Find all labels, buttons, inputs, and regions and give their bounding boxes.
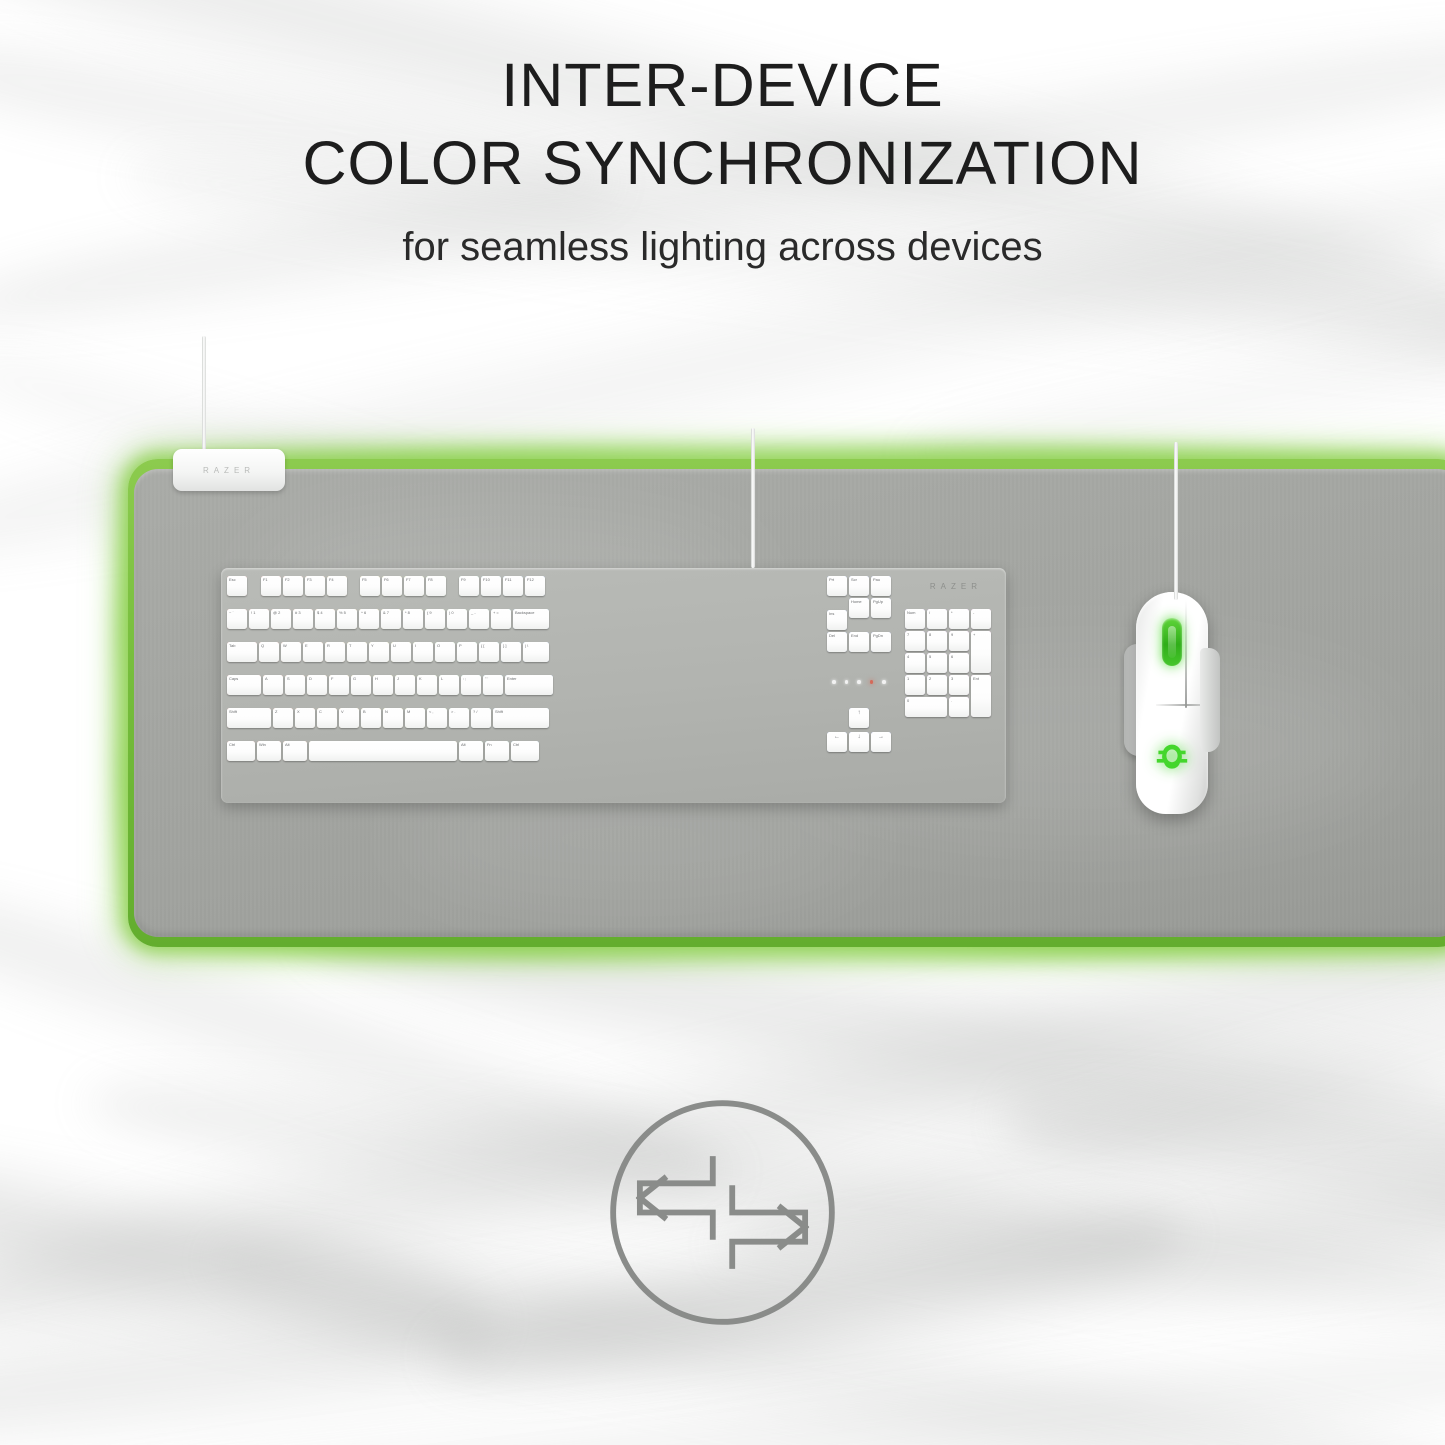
keyboard-key[interactable]: F9 bbox=[459, 576, 479, 596]
keyboard-key[interactable]: R bbox=[325, 642, 345, 662]
keyboard-key-numpad[interactable]: 7 bbox=[905, 631, 925, 651]
key-label: W bbox=[283, 644, 300, 649]
keyboard-key[interactable]: U bbox=[391, 642, 411, 662]
keyboard-key[interactable]: Ctrl bbox=[227, 741, 255, 761]
headline-subtitle: for seamless lighting across devices bbox=[0, 224, 1445, 270]
keyboard-row-function-row: EscF1F2F3F4F5F6F7F8F9F10F11F12 bbox=[227, 576, 547, 596]
keyboard-key[interactable]: Shift bbox=[227, 708, 271, 728]
keyboard-row-shift-row: ShiftZXCVBNM< ,> .? /Shift bbox=[227, 708, 551, 728]
keyboard-key-numpad[interactable]: - bbox=[971, 609, 991, 629]
key-label: Win bbox=[259, 743, 280, 748]
keyboard-key[interactable]: X bbox=[295, 708, 315, 728]
key-label: O bbox=[437, 644, 454, 649]
keyboard-key[interactable]: ^ 6 bbox=[359, 609, 379, 629]
keyboard-key-arrow[interactable]: ↑ bbox=[849, 708, 869, 728]
key-label: J bbox=[397, 677, 414, 682]
key-label: @ 2 bbox=[273, 611, 290, 616]
keyboard-key-nav[interactable]: Ins bbox=[827, 610, 847, 630]
keyboard-key[interactable]: F2 bbox=[283, 576, 303, 596]
sync-arrows-icon bbox=[601, 1091, 844, 1334]
key-label: Backspace bbox=[515, 611, 547, 616]
key-spacer bbox=[249, 576, 259, 596]
key-label: 2 bbox=[929, 677, 946, 682]
key-label: U bbox=[393, 644, 410, 649]
keyboard-key[interactable]: F1 bbox=[261, 576, 281, 596]
key-label: # 3 bbox=[295, 611, 312, 616]
key-label: E bbox=[305, 644, 322, 649]
keyboard-key[interactable]: H bbox=[373, 675, 393, 695]
key-label: F11 bbox=[505, 578, 522, 583]
keyboard-key[interactable]: V bbox=[339, 708, 359, 728]
keyboard-key[interactable]: * 8 bbox=[403, 609, 423, 629]
keyboard-key[interactable]: + = bbox=[491, 609, 511, 629]
key-label: 4 bbox=[907, 655, 924, 660]
key-label: F7 bbox=[406, 578, 423, 583]
key-label: B bbox=[363, 710, 380, 715]
keyboard-nav-cluster: PrtScrPauInsHomePgUpDelEndPgDn bbox=[827, 576, 891, 652]
key-label: Esc bbox=[229, 578, 246, 583]
keyboard-row-bottom-row: CtrlWinAltAltFnCtrl bbox=[227, 741, 541, 761]
keyboard-key-nav[interactable]: PgUp bbox=[871, 598, 891, 618]
keyboard-key-numpad[interactable]: Ent bbox=[971, 675, 991, 717]
keyboard-key[interactable]: Esc bbox=[227, 576, 247, 596]
led-indicator bbox=[870, 680, 874, 684]
keyboard-key[interactable]: Caps bbox=[227, 675, 261, 695]
key-label: ) 0 bbox=[449, 611, 466, 616]
keyboard-key[interactable]: G bbox=[351, 675, 371, 695]
key-label: 5 bbox=[929, 655, 946, 660]
key-label: ( 9 bbox=[427, 611, 444, 616]
razer-snake-logo bbox=[1152, 742, 1192, 776]
pad-usb-connector-tab: RAZER bbox=[173, 449, 285, 491]
keyboard-key[interactable]: S bbox=[285, 675, 305, 695]
key-label: / bbox=[929, 611, 946, 616]
keyboard-key[interactable]: Alt bbox=[459, 741, 483, 761]
led-indicator bbox=[882, 680, 886, 684]
keyboard-cable bbox=[751, 428, 755, 568]
keyboard-row-home-row: CapsASDFGHJKL: ;" 'Enter bbox=[227, 675, 555, 695]
keyboard-key[interactable]: F6 bbox=[382, 576, 402, 596]
keyboard-key[interactable]: F10 bbox=[481, 576, 501, 596]
keyboard-key[interactable]: ( 9 bbox=[425, 609, 445, 629]
mouse-button-seam bbox=[1185, 600, 1187, 708]
headline-block: INTER-DEVICE COLOR SYNCHRONIZATION for s… bbox=[0, 46, 1445, 270]
keyboard-row-qwerty-row: TabQWERTYUIOP{ [} ]| \ bbox=[227, 642, 551, 662]
keyboard-key[interactable]: K bbox=[417, 675, 437, 695]
key-label: > . bbox=[451, 710, 468, 715]
keyboard-key[interactable]: F7 bbox=[404, 576, 424, 596]
key-label: Caps bbox=[229, 677, 259, 682]
key-label: T bbox=[349, 644, 366, 649]
keyboard-key[interactable]: > . bbox=[449, 708, 469, 728]
keyboard-key-numpad[interactable]: 9 bbox=[949, 631, 969, 651]
keyboard-key[interactable]: Fn bbox=[485, 741, 509, 761]
keyboard-key[interactable]: W bbox=[281, 642, 301, 662]
keyboard-key[interactable]: C bbox=[317, 708, 337, 728]
key-label: & 7 bbox=[383, 611, 400, 616]
keyboard-key[interactable]: J bbox=[395, 675, 415, 695]
key-label: Y bbox=[371, 644, 388, 649]
keyboard-key-numpad[interactable]: * bbox=[949, 609, 969, 629]
keyboard-key-nav[interactable]: Pau bbox=[871, 576, 891, 596]
key-spacer bbox=[349, 576, 358, 596]
keyboard-key[interactable]: # 3 bbox=[293, 609, 313, 629]
key-label: L bbox=[441, 677, 458, 682]
keyboard-key[interactable]: A bbox=[263, 675, 283, 695]
mouse-right-grip bbox=[1200, 648, 1220, 752]
keyboard-key-nav[interactable]: Prt bbox=[827, 576, 847, 596]
keyboard-key-numpad[interactable]: 5 bbox=[927, 653, 947, 673]
key-label: _ - bbox=[471, 611, 488, 616]
key-label: F4 bbox=[329, 578, 346, 583]
key-label: 1 bbox=[907, 677, 924, 682]
key-label: F6 bbox=[384, 578, 401, 583]
keyboard-key[interactable]: L bbox=[439, 675, 459, 695]
key-label: 3 bbox=[951, 677, 968, 682]
keyboard-key[interactable]: % 5 bbox=[337, 609, 357, 629]
keyboard-key[interactable]: F11 bbox=[503, 576, 523, 596]
keyboard-key-nav[interactable]: Scr bbox=[849, 576, 869, 596]
key-label: + bbox=[973, 633, 990, 638]
key-label: A bbox=[265, 677, 282, 682]
key-label: Ent bbox=[973, 677, 990, 682]
keyboard-key[interactable]: E bbox=[303, 642, 323, 662]
keyboard-key[interactable]: F4 bbox=[327, 576, 347, 596]
key-label: Shift bbox=[495, 710, 546, 715]
keyboard-key[interactable]: ) 0 bbox=[447, 609, 467, 629]
led-indicator bbox=[845, 680, 849, 684]
keyboard-key[interactable]: { [ bbox=[479, 642, 499, 662]
keyboard-key[interactable]: $ 4 bbox=[315, 609, 335, 629]
keyboard-key-numpad[interactable]: / bbox=[927, 609, 947, 629]
keyboard-key[interactable]: P bbox=[457, 642, 477, 662]
key-label: ! 1 bbox=[251, 611, 268, 616]
key-label: Home bbox=[851, 600, 868, 605]
key-label: F9 bbox=[461, 578, 478, 583]
keyboard-key-nav[interactable]: Del bbox=[827, 632, 847, 652]
keyboard-key[interactable]: I bbox=[413, 642, 433, 662]
key-label: Fn bbox=[487, 743, 508, 748]
led-indicator bbox=[857, 680, 861, 684]
mouse-cable bbox=[1174, 442, 1178, 600]
key-spacer bbox=[448, 576, 457, 596]
key-label: S bbox=[287, 677, 304, 682]
key-label: $ 4 bbox=[317, 611, 334, 616]
key-label: Enter bbox=[507, 677, 551, 682]
keyboard-key[interactable]: O bbox=[435, 642, 455, 662]
keyboard-key[interactable]: ! 1 bbox=[249, 609, 269, 629]
keyboard-key-numpad[interactable]: 6 bbox=[949, 653, 969, 673]
keyboard-key[interactable]: ~ ` bbox=[227, 609, 247, 629]
key-label: - bbox=[973, 611, 990, 616]
key-label: M bbox=[407, 710, 424, 715]
keyboard-key-numpad[interactable]: 8 bbox=[927, 631, 947, 651]
keyboard-key[interactable]: F12 bbox=[525, 576, 545, 596]
key-label: D bbox=[309, 677, 326, 682]
key-label: + = bbox=[493, 611, 510, 616]
keyboard-key-nav[interactable]: End bbox=[849, 632, 869, 652]
pad-usb-cable bbox=[202, 336, 206, 456]
key-label: Num bbox=[907, 611, 924, 616]
keyboard-key[interactable]: } ] bbox=[501, 642, 521, 662]
usb-tab-wordmark: RAZER bbox=[203, 466, 255, 475]
mouse-scroll-wheel bbox=[1162, 618, 1182, 666]
key-label: F8 bbox=[428, 578, 445, 583]
keyboard-row-number-row: ~ `! 1@ 2# 3$ 4% 5^ 6& 7* 8( 9) 0_ -+ =B… bbox=[227, 609, 551, 629]
key-label: Ctrl bbox=[229, 743, 254, 748]
keyboard-led-indicators bbox=[832, 680, 886, 684]
key-label: N bbox=[385, 710, 402, 715]
keyboard-key[interactable]: : ; bbox=[461, 675, 481, 695]
key-label: C bbox=[319, 710, 336, 715]
key-label: Ins bbox=[829, 612, 846, 617]
key-label: . bbox=[951, 699, 968, 704]
key-label: Ctrl bbox=[513, 743, 538, 748]
key-label: | \ bbox=[525, 644, 548, 649]
key-label: Del bbox=[829, 634, 846, 639]
key-label: * bbox=[951, 611, 968, 616]
key-label: End bbox=[851, 634, 868, 639]
key-label: PgDn bbox=[873, 634, 890, 639]
key-label: ↓ bbox=[849, 734, 869, 741]
key-label: Q bbox=[261, 644, 278, 649]
key-label: Shift bbox=[229, 710, 269, 715]
keyboard-key[interactable]: Alt bbox=[283, 741, 307, 761]
key-label: ? / bbox=[473, 710, 490, 715]
keyboard-key[interactable]: @ 2 bbox=[271, 609, 291, 629]
led-indicator bbox=[832, 680, 836, 684]
key-label: 0 bbox=[907, 699, 945, 704]
keyboard-key-arrow[interactable]: ↓ bbox=[849, 732, 869, 752]
key-label: ~ ` bbox=[229, 611, 246, 616]
key-label: 8 bbox=[929, 633, 946, 638]
keyboard-key[interactable]: Y bbox=[369, 642, 389, 662]
keyboard-key-numpad[interactable]: Num bbox=[905, 609, 925, 629]
keyboard-key[interactable]: Backspace bbox=[513, 609, 549, 629]
keyboard-key[interactable]: B bbox=[361, 708, 381, 728]
keyboard-key-nav[interactable]: Home bbox=[849, 598, 869, 618]
keyboard-wordmark: RAZER bbox=[930, 582, 982, 591]
key-label: " ' bbox=[485, 677, 502, 682]
keyboard-key[interactable]: & 7 bbox=[381, 609, 401, 629]
key-label: F2 bbox=[285, 578, 302, 583]
key-label: Alt bbox=[461, 743, 482, 748]
key-label: } ] bbox=[503, 644, 520, 649]
keyboard-key[interactable] bbox=[309, 741, 457, 761]
key-label: Alt bbox=[285, 743, 306, 748]
keyboard-key[interactable]: F bbox=[329, 675, 349, 695]
key-label: X bbox=[297, 710, 314, 715]
keyboard-key[interactable]: Tab bbox=[227, 642, 257, 662]
key-label: < , bbox=[429, 710, 446, 715]
usb-tab-body: RAZER bbox=[173, 449, 285, 491]
keyboard-key-numpad[interactable]: 4 bbox=[905, 653, 925, 673]
key-label: 6 bbox=[951, 655, 968, 660]
key-label: V bbox=[341, 710, 358, 715]
headline-line-2: COLOR SYNCHRONIZATION bbox=[0, 124, 1445, 202]
key-label: { [ bbox=[481, 644, 498, 649]
keyboard-key[interactable]: | \ bbox=[523, 642, 549, 662]
key-label: Pau bbox=[873, 578, 890, 583]
keyboard-key-numpad[interactable]: + bbox=[971, 631, 991, 673]
key-label: F5 bbox=[362, 578, 379, 583]
keyboard-key[interactable]: Enter bbox=[505, 675, 553, 695]
key-label: F10 bbox=[483, 578, 500, 583]
keyboard-key[interactable]: D bbox=[307, 675, 327, 695]
keyboard-key[interactable]: Q bbox=[259, 642, 279, 662]
key-label: F12 bbox=[527, 578, 544, 583]
key-label: F1 bbox=[263, 578, 280, 583]
key-label: 9 bbox=[951, 633, 968, 638]
keyboard-key[interactable]: M bbox=[405, 708, 425, 728]
keyboard-key[interactable]: < , bbox=[427, 708, 447, 728]
key-label: F bbox=[331, 677, 348, 682]
rgb-mechanical-keyboard: RAZER EscF1F2F3F4F5F6F7F8F9F10F11F12~ `!… bbox=[221, 568, 1006, 803]
key-label: * 8 bbox=[405, 611, 422, 616]
keyboard-key[interactable]: Ctrl bbox=[511, 741, 539, 761]
key-label: : ; bbox=[463, 677, 480, 682]
key-label: Z bbox=[275, 710, 292, 715]
key-label: % 5 bbox=[339, 611, 356, 616]
keyboard-key[interactable]: " ' bbox=[483, 675, 503, 695]
keyboard-key[interactable]: F3 bbox=[305, 576, 325, 596]
rgb-gaming-mouse bbox=[1122, 592, 1222, 814]
key-label: ← bbox=[827, 734, 847, 741]
key-label: G bbox=[353, 677, 370, 682]
keyboard-key-numpad[interactable]: 2 bbox=[927, 675, 947, 695]
key-label: P bbox=[459, 644, 476, 649]
keyboard-key[interactable]: Shift bbox=[493, 708, 549, 728]
key-label: F3 bbox=[307, 578, 324, 583]
keyboard-key[interactable]: ? / bbox=[471, 708, 491, 728]
headline-line-1: INTER-DEVICE bbox=[0, 46, 1445, 124]
key-label: → bbox=[871, 734, 891, 741]
keyboard-numpad: Num/*-789+456123Ent0. bbox=[905, 609, 993, 754]
keyboard-key[interactable]: _ - bbox=[469, 609, 489, 629]
key-label: R bbox=[327, 644, 344, 649]
keyboard-key[interactable]: Win bbox=[257, 741, 281, 761]
keyboard-key[interactable]: F5 bbox=[360, 576, 380, 596]
keyboard-key-numpad[interactable]: 1 bbox=[905, 675, 925, 695]
keyboard-arrow-cluster: ↑←↓→ bbox=[827, 708, 893, 754]
keyboard-key-arrow[interactable]: ← bbox=[827, 732, 847, 752]
keyboard-key[interactable]: T bbox=[347, 642, 367, 662]
key-label: ↑ bbox=[849, 710, 869, 717]
keyboard-key-arrow[interactable]: → bbox=[871, 732, 891, 752]
keyboard-key-numpad[interactable]: 3 bbox=[949, 675, 969, 695]
key-label: I bbox=[415, 644, 432, 649]
keyboard-key-numpad[interactable]: 0 bbox=[905, 697, 947, 717]
key-label: H bbox=[375, 677, 392, 682]
key-label: K bbox=[419, 677, 436, 682]
keyboard-key-numpad[interactable]: . bbox=[949, 697, 969, 717]
key-label: 7 bbox=[907, 633, 924, 638]
key-label: PgUp bbox=[873, 600, 890, 605]
key-label: ^ 6 bbox=[361, 611, 378, 616]
keyboard-key[interactable]: Z bbox=[273, 708, 293, 728]
key-label: Prt bbox=[829, 578, 846, 583]
key-label: Tab bbox=[229, 644, 256, 649]
keyboard-key-nav[interactable]: PgDn bbox=[871, 632, 891, 652]
key-label: Scr bbox=[851, 578, 868, 583]
keyboard-key[interactable]: F8 bbox=[426, 576, 446, 596]
keyboard-key[interactable]: N bbox=[383, 708, 403, 728]
